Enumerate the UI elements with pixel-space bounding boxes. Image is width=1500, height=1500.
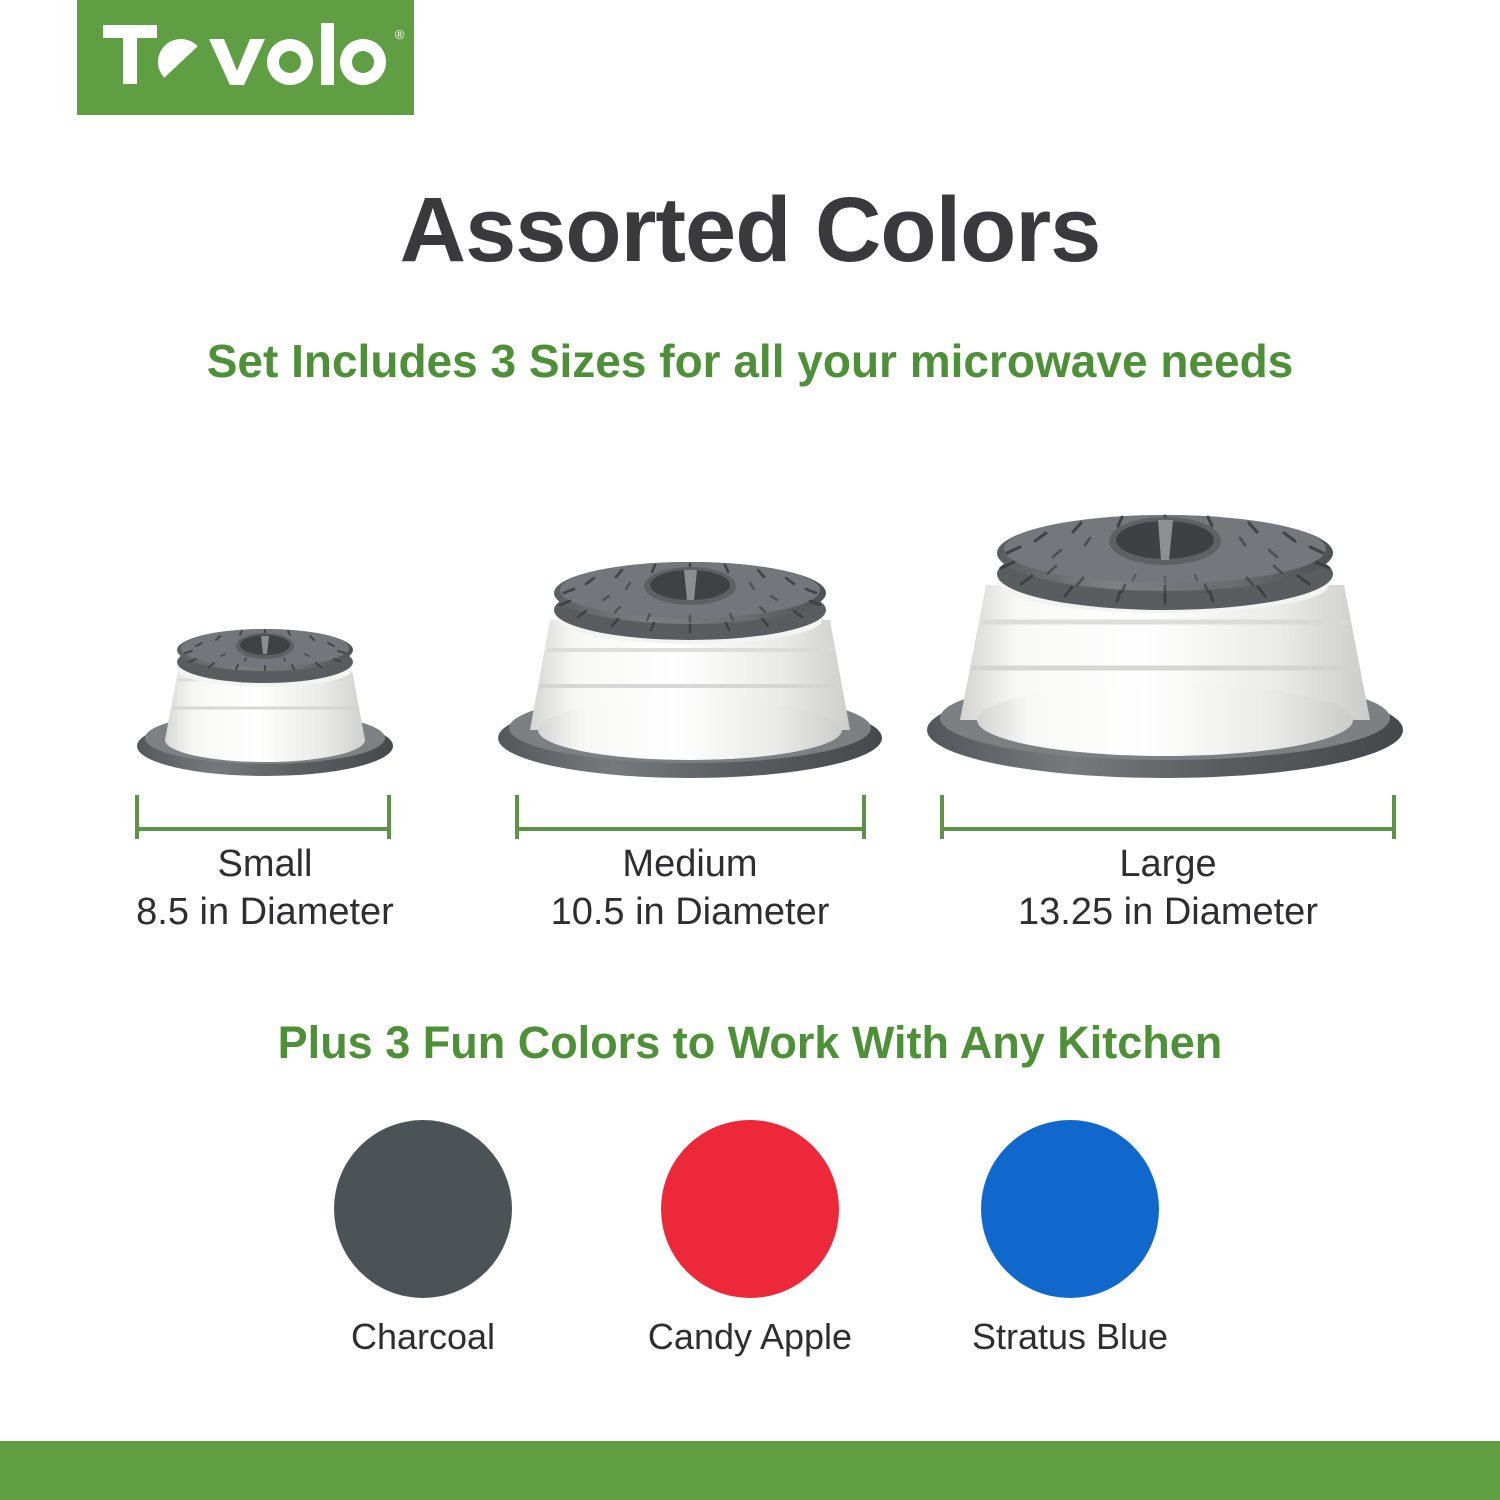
color-name-candy-apple: Candy Apple <box>600 1316 900 1358</box>
size-dimension-large: 13.25 in Diameter <box>998 888 1338 936</box>
color-dot-stratus-blue[interactable] <box>981 1120 1159 1298</box>
product-size-row <box>0 430 1500 780</box>
color-swatch-charcoal[interactable]: Charcoal <box>273 1120 573 1358</box>
size-label-medium: Medium 10.5 in Diameter <box>520 840 860 936</box>
size-bar-cap-left <box>940 795 944 839</box>
colors-section-heading: Plus 3 Fun Colors to Work With Any Kitch… <box>0 1017 1500 1069</box>
color-swatch-candy-apple[interactable]: Candy Apple <box>600 1120 900 1358</box>
size-dimension-medium: 10.5 in Diameter <box>520 888 860 936</box>
color-name-charcoal: Charcoal <box>273 1316 573 1358</box>
product-image-small <box>130 550 400 780</box>
size-bar-rule <box>135 827 391 831</box>
size-name-large: Large <box>998 840 1338 888</box>
size-name-medium: Medium <box>520 840 860 888</box>
registered-trademark-icon: ® <box>395 27 405 42</box>
page-subtitle: Set Includes 3 Sizes for all your microw… <box>0 334 1500 388</box>
color-dot-charcoal[interactable] <box>334 1120 512 1298</box>
color-dot-candy-apple[interactable] <box>661 1120 839 1298</box>
size-bar-large <box>940 795 1396 839</box>
product-image-medium <box>490 490 890 780</box>
size-bar-cap-left <box>135 795 139 839</box>
infographic-page: ® Assorted Colors Set Includes 3 Sizes f… <box>0 0 1500 1500</box>
brand-wordmark: ® <box>101 19 391 97</box>
page-title: Assorted Colors <box>0 178 1500 283</box>
size-bar-cap-right <box>1392 795 1396 839</box>
color-name-stratus-blue: Stratus Blue <box>920 1316 1220 1358</box>
footer-accent-bar <box>0 1441 1500 1500</box>
size-dimension-small: 8.5 in Diameter <box>95 888 435 936</box>
size-bar-cap-right <box>862 795 866 839</box>
size-label-large: Large 13.25 in Diameter <box>998 840 1338 936</box>
product-image-large <box>920 440 1410 780</box>
size-bar-small <box>135 795 391 839</box>
size-bar-rule <box>940 827 1396 831</box>
brand-logo: ® <box>77 0 414 115</box>
size-name-small: Small <box>95 840 435 888</box>
size-bar-medium <box>515 795 866 839</box>
size-bar-cap-right <box>387 795 391 839</box>
color-swatch-stratus-blue[interactable]: Stratus Blue <box>920 1120 1220 1358</box>
size-label-small: Small 8.5 in Diameter <box>95 840 435 936</box>
size-bar-cap-left <box>515 795 519 839</box>
size-bar-rule <box>515 827 866 831</box>
